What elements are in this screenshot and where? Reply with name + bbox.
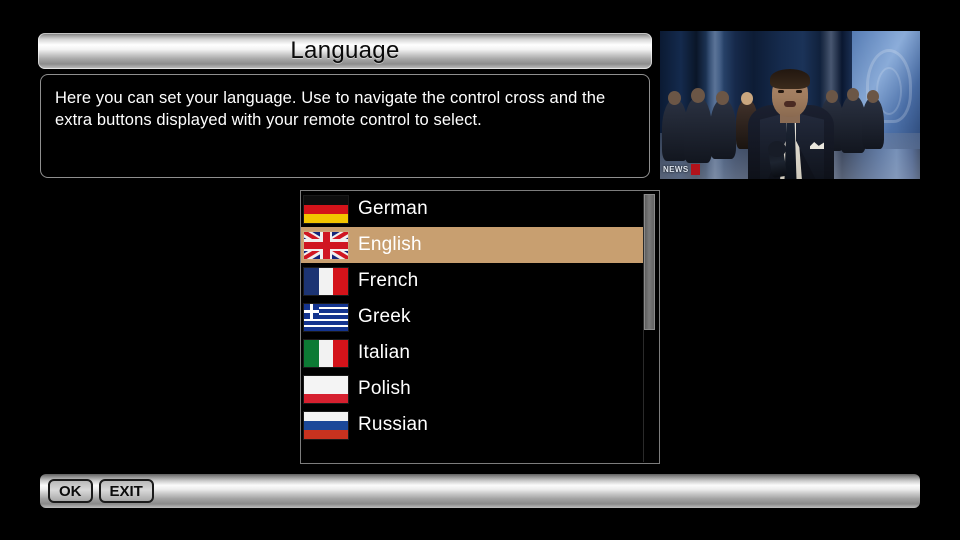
- crowd-person-head: [691, 88, 705, 103]
- crowd-person-head: [668, 91, 681, 105]
- crowd-person: [862, 97, 884, 149]
- language-label: Polish: [358, 378, 411, 400]
- language-list-item-english[interactable]: English: [301, 227, 643, 263]
- language-list-item-italian[interactable]: Italian: [301, 335, 643, 371]
- reporter-mouth: [784, 101, 796, 107]
- title-bar: Language: [38, 33, 652, 69]
- reporter-eye-right: [796, 90, 802, 93]
- microphone-head: [768, 141, 786, 157]
- crowd-person-head: [826, 90, 838, 103]
- list-scrollbar-thumb[interactable]: [644, 194, 655, 330]
- language-list-panel[interactable]: German English Fren: [300, 190, 660, 464]
- flag-russia-icon: [304, 412, 348, 439]
- softkey-bar: OK EXIT: [40, 474, 920, 508]
- language-list-item-french[interactable]: French: [301, 263, 643, 299]
- language-list-item-polish[interactable]: Polish: [301, 371, 643, 407]
- flag-france-icon: [304, 268, 348, 295]
- language-label: English: [358, 234, 422, 256]
- help-text: Here you can set your language. Use to n…: [55, 87, 635, 131]
- video-preview[interactable]: NEWS: [660, 31, 920, 179]
- language-list-item-german[interactable]: German: [301, 191, 643, 227]
- reporter-hair: [770, 69, 810, 89]
- tv-settings-screen: Language Here you can set your language.…: [0, 0, 960, 540]
- language-list: German English Fren: [301, 191, 643, 443]
- crowd-person: [684, 97, 712, 163]
- channel-watermark: NEWS: [663, 164, 745, 175]
- ok-button-label: OK: [59, 483, 82, 500]
- flag-poland-icon: [304, 376, 348, 403]
- language-label: Russian: [358, 414, 428, 436]
- flag-united-kingdom-icon: [304, 232, 348, 259]
- flag-greece-icon: [304, 304, 348, 331]
- channel-watermark-badge: [691, 164, 700, 175]
- ok-button[interactable]: OK: [48, 479, 93, 503]
- page-title: Language: [290, 37, 399, 65]
- crowd-person-head: [741, 92, 753, 105]
- language-label: Italian: [358, 342, 410, 364]
- crowd-person-head: [847, 88, 859, 101]
- exit-button-label: EXIT: [110, 483, 143, 500]
- flag-germany-icon: [304, 196, 348, 223]
- crowd-person-head: [716, 91, 729, 105]
- list-scrollbar-track[interactable]: [643, 194, 654, 462]
- language-list-item-greek[interactable]: Greek: [301, 299, 643, 335]
- crowd-person: [710, 99, 736, 159]
- language-label: German: [358, 198, 428, 220]
- language-list-item-russian[interactable]: Russian: [301, 407, 643, 443]
- reporter-eye-left: [778, 90, 784, 93]
- help-panel: Here you can set your language. Use to n…: [40, 74, 650, 178]
- channel-watermark-text: NEWS: [663, 164, 689, 175]
- crowd-person-head: [867, 90, 879, 103]
- flag-italy-icon: [304, 340, 348, 367]
- exit-button[interactable]: EXIT: [99, 479, 154, 503]
- language-label: Greek: [358, 306, 411, 328]
- language-label: French: [358, 270, 418, 292]
